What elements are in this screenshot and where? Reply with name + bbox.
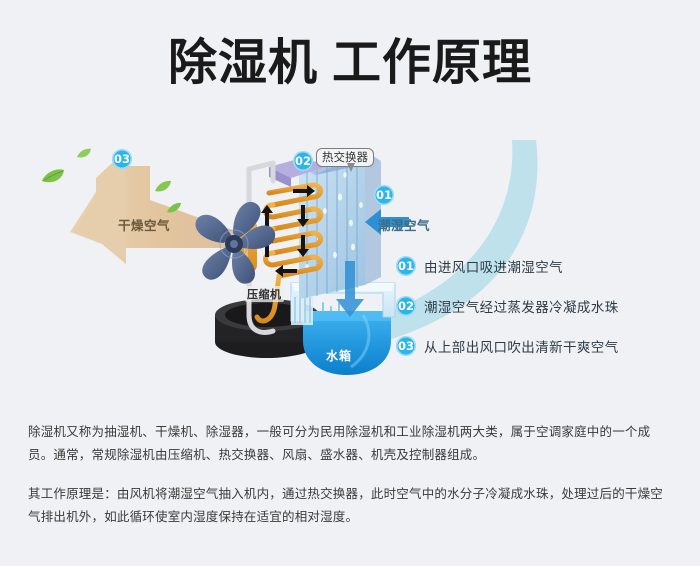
page-title-part1: 除湿机 bbox=[168, 34, 318, 91]
leaf-icon bbox=[40, 168, 66, 186]
leaf-icon bbox=[166, 202, 182, 215]
humid-air-label: 潮湿空气 bbox=[378, 215, 430, 234]
body-paragraph-2: 其工作原理是：由风机将潮湿空气抽入机内，通过热交换器，此时空气中的水分子冷凝成水… bbox=[28, 482, 673, 528]
callout-tail-icon bbox=[347, 163, 355, 172]
heat-exchanger-callout: 热交换器 bbox=[316, 148, 374, 167]
page-title: 除湿机工作原理 bbox=[0, 34, 700, 92]
legend-item-02: 02 潮湿空气经过蒸发器冷凝成水珠 bbox=[396, 296, 686, 316]
page-title-part2: 工作原理 bbox=[332, 34, 532, 91]
dry-air-badge: 03 bbox=[112, 148, 132, 169]
heat-exchanger-badge: 02 bbox=[293, 150, 313, 171]
legend-item-01: 01 由进风口吸进潮湿空气 bbox=[396, 256, 686, 276]
legend-item-03: 03 从上部出风口吹出清新干爽空气 bbox=[396, 336, 686, 356]
leaf-icon bbox=[154, 180, 172, 194]
legend-item-label: 从上部出风口吹出清新干爽空气 bbox=[424, 336, 619, 356]
dehumidifier-diagram-icon bbox=[195, 135, 410, 390]
legend-item-label: 由进风口吸进潮湿空气 bbox=[424, 256, 563, 276]
legend-item-label: 潮湿空气经过蒸发器冷凝成水珠 bbox=[424, 296, 619, 316]
water-tank-label: 水箱 bbox=[326, 347, 352, 364]
dry-air-label: 干燥空气 bbox=[118, 215, 170, 234]
compressor-label: 压缩机 bbox=[245, 286, 284, 302]
legend-badge: 03 bbox=[396, 336, 416, 356]
infographic-page: 除湿机工作原理 bbox=[0, 0, 700, 566]
legend-list: 01 由进风口吸进潮湿空气 02 潮湿空气经过蒸发器冷凝成水珠 03 从上部出风… bbox=[396, 256, 686, 376]
legend-badge: 01 bbox=[396, 256, 416, 276]
body-copy: 除湿机又称为抽湿机、干燥机、除湿器，一般可分为民用除湿机和工业除湿机两大类，属于… bbox=[28, 420, 673, 528]
humid-air-badge: 01 bbox=[374, 184, 394, 205]
legend-badge: 02 bbox=[396, 296, 416, 316]
body-paragraph-1: 除湿机又称为抽湿机、干燥机、除湿器，一般可分为民用除湿机和工业除湿机两大类，属于… bbox=[28, 420, 673, 466]
leaf-icon bbox=[76, 148, 92, 160]
